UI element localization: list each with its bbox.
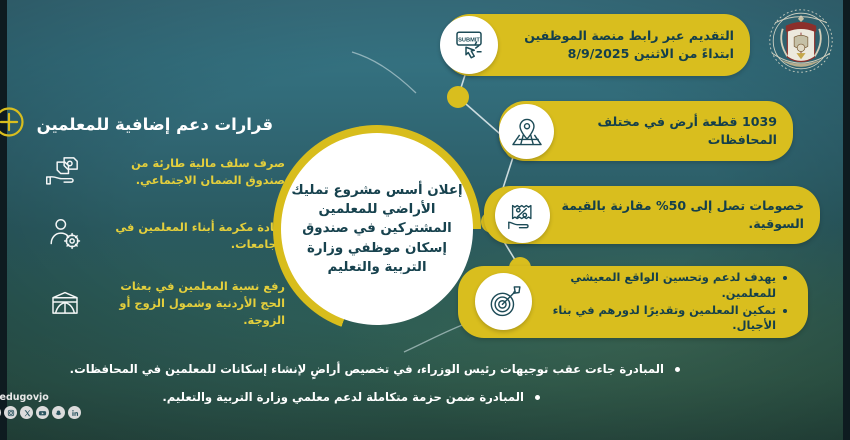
left-column-heading: قرارات دعم إضافية للمعلمين [43, 104, 273, 144]
jordan-coat-of-arms [762, 6, 840, 76]
card-goals-list: يهدف لدعم وتحسين الواقع المعيشي للمعلمين… [522, 270, 792, 335]
hand-money-icon [43, 150, 87, 194]
left-item-hajj-text: رفع نسبة المعلمين في بعثات الحج الأردنية… [97, 278, 285, 329]
target-dart-icon [475, 273, 532, 330]
bottom-notes: المبادرة جاءت عقب توجيهات رئيس الوزراء، … [20, 362, 680, 417]
snapchat-icon[interactable] [52, 406, 65, 419]
left-edge-bar [0, 0, 7, 440]
center-title: إعلان أسس مشروع تمليك الأراضي للمعلمين ا… [291, 181, 463, 276]
map-location-icon [499, 104, 554, 159]
submit-click-icon: SUBMIT [440, 16, 498, 74]
social-handle: @edugovjo [0, 392, 98, 403]
discount-hand-icon [495, 188, 550, 243]
card-goals-text: يهدف لدعم وتحسين الواقع المعيشي للمعلمين… [512, 261, 808, 344]
graph-node [447, 86, 469, 108]
left-item-university[interactable]: زيادة مكرمة أبناء المعلمين في الجامعات. [37, 214, 285, 258]
plus-circle-icon [0, 104, 27, 144]
left-item-university-text: زيادة مكرمة أبناء المعلمين في الجامعات. [97, 219, 285, 253]
left-heading-label: قرارات دعم إضافية للمعلمين [37, 115, 273, 134]
social-footer: @edugovjo [0, 392, 98, 419]
kaaba-icon [43, 284, 87, 324]
left-item-hajj[interactable]: رفع نسبة المعلمين في بعثات الحج الأردنية… [37, 278, 285, 329]
infographic-canvas: إعلان أسس مشروع تمليك الأراضي للمعلمين ا… [0, 0, 850, 440]
social-icons-row [0, 406, 98, 419]
card-discounts-text: خصومات تصل إلى 50% مقارنة بالقيمة السوقي… [534, 189, 820, 242]
graduate-gear-icon [45, 214, 87, 258]
card-goals-bullet: تمكين المعلمين وتقديرًا لدورهم في بناء ا… [522, 303, 776, 335]
youtube-icon[interactable] [36, 406, 49, 419]
facebook-icon[interactable] [0, 406, 1, 419]
bottom-notes-list: المبادرة جاءت عقب توجيهات رئيس الوزراء، … [20, 362, 680, 405]
card-submission-text: التقديم عبر رابط منصة الموظفين ابتداءً م… [492, 19, 750, 72]
bottom-note: المبادرة ضمن حزمة متكاملة لدعم معلمي وزا… [44, 390, 540, 406]
center-circle: إعلان أسس مشروع تمليك الأراضي للمعلمين ا… [281, 133, 473, 325]
card-goals-bullet: يهدف لدعم وتحسين الواقع المعيشي للمعلمين… [522, 270, 776, 302]
bottom-note: المبادرة جاءت عقب توجيهات رئيس الوزراء، … [20, 362, 680, 378]
x-twitter-icon[interactable] [20, 406, 33, 419]
instagram-icon[interactable] [4, 406, 17, 419]
linkedin-icon[interactable] [68, 406, 81, 419]
right-edge-bar [843, 0, 850, 440]
card-plots-text: 1039 قطعة أرض في مختلف المحافظات [545, 105, 793, 158]
left-item-loans-text: صرف سلف مالية طارئة من صندوق الضمان الاج… [97, 155, 285, 189]
left-item-loans[interactable]: صرف سلف مالية طارئة من صندوق الضمان الاج… [37, 150, 285, 194]
